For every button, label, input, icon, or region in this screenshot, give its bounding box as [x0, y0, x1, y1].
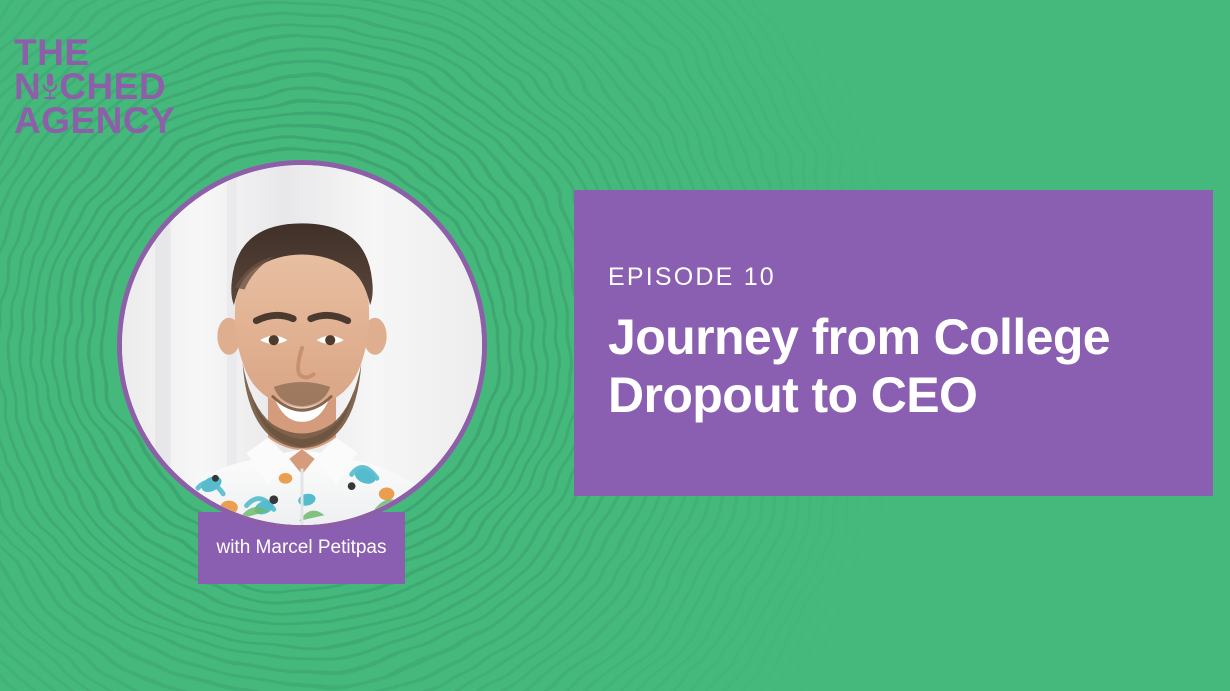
brand-logo: THE N CHED AGENCY [14, 36, 294, 138]
episode-title-line-1: Journey from College [608, 309, 1110, 365]
podcast-episode-graphic: THE N CHED AGENCY with Marcel Petitpas [0, 0, 1230, 691]
brand-logo-line-2: N CHED [14, 70, 294, 104]
brand-logo-line-2-before: N [14, 70, 41, 104]
brand-logo-line-1: THE [14, 36, 294, 70]
episode-number-label: EPISODE 10 [608, 263, 1179, 292]
guest-portrait [117, 160, 487, 530]
episode-title: Journey from College Dropout to CEO [608, 308, 1179, 424]
episode-title-line-2: Dropout to CEO [608, 367, 977, 423]
brand-logo-line-2-after: CHED [59, 70, 166, 104]
episode-panel: EPISODE 10 Journey from College Dropout … [574, 190, 1213, 496]
microphone-icon [42, 73, 58, 103]
guest-caption-text: with Marcel Petitpas [206, 535, 396, 561]
brand-logo-line-3: AGENCY [14, 104, 294, 138]
guest-portrait-illustration [122, 165, 482, 525]
